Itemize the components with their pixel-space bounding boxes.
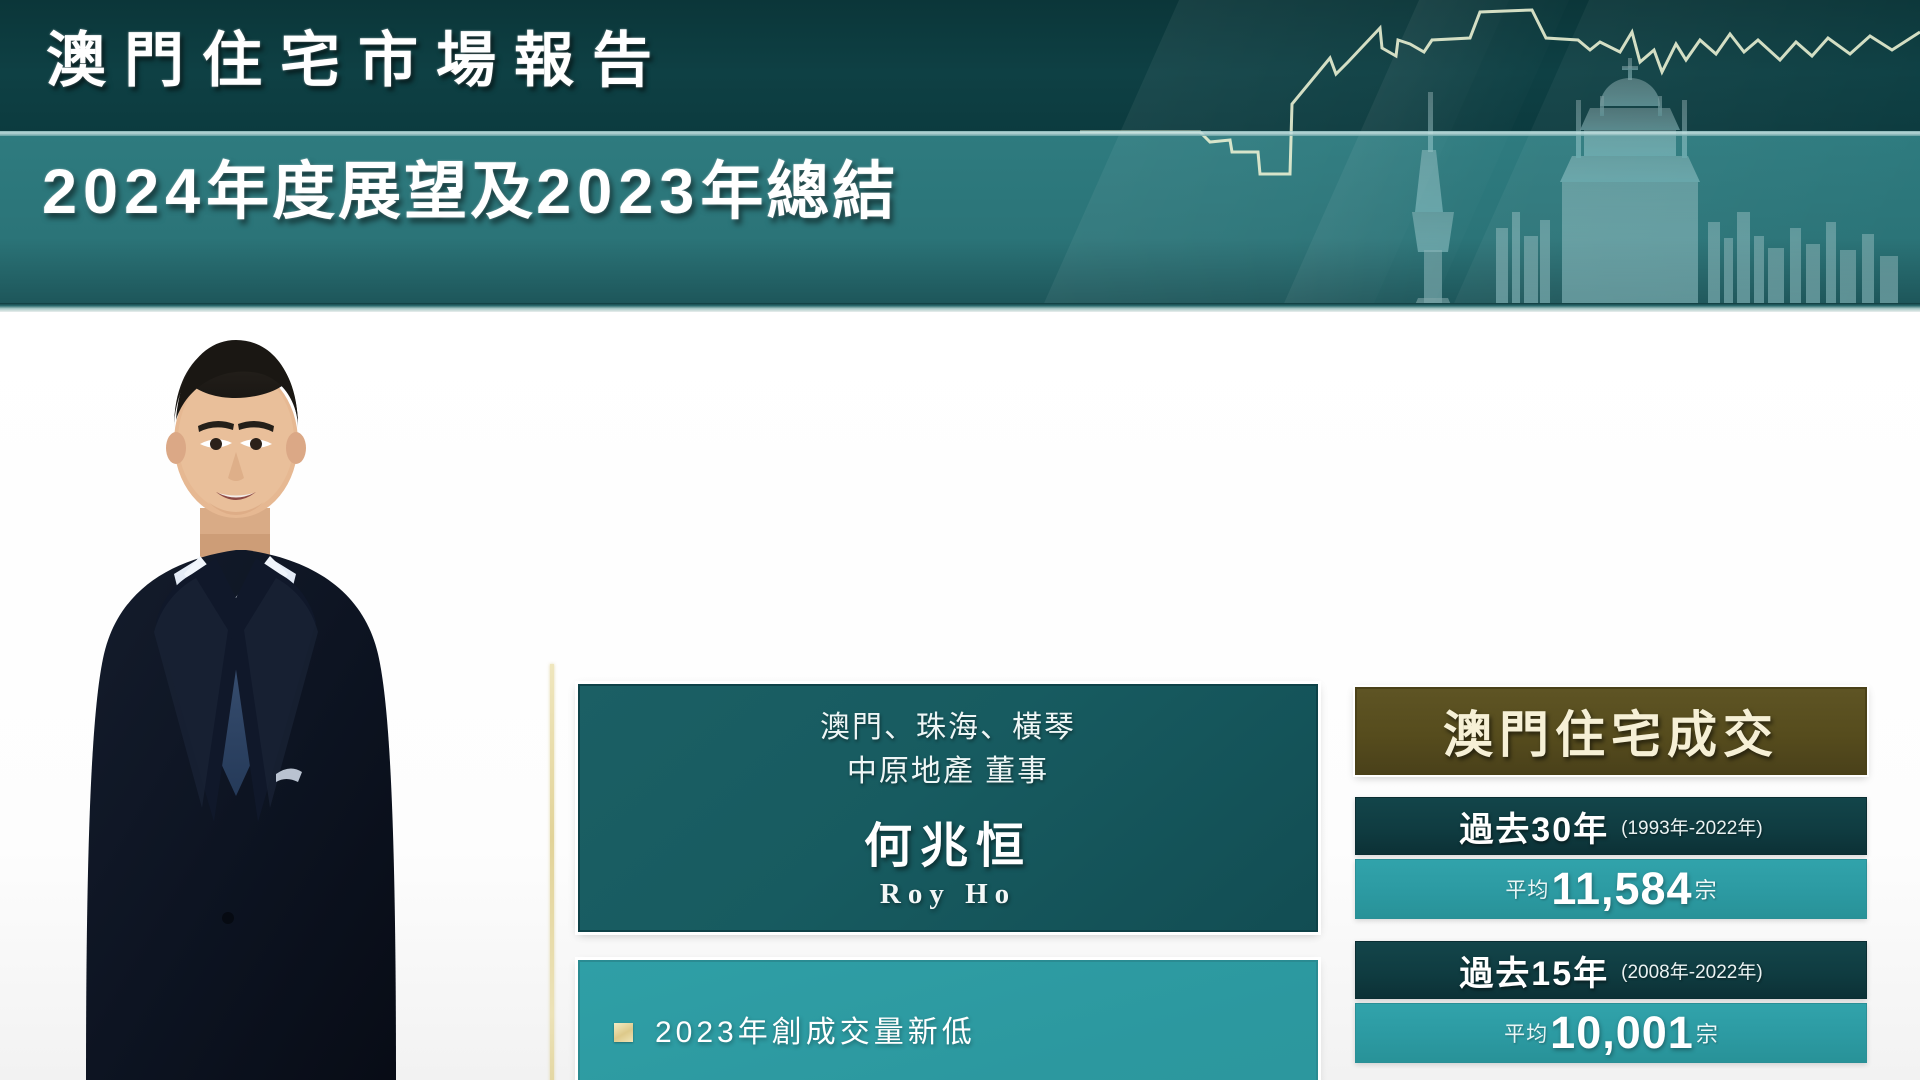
stat-value-number: 11,584 xyxy=(1551,863,1692,915)
speaker-org-line-2: 中原地產 董事 xyxy=(820,750,1076,794)
page-subtitle: 2024年度展望及2023年總結 xyxy=(42,142,898,242)
stat-value-unit: 宗 xyxy=(1696,1017,1718,1049)
page-title: 澳門住宅市場報告 xyxy=(46,18,670,104)
list-item-line: 2023年創成交量新低 xyxy=(655,1010,976,1056)
stats-title-label: 澳門住宅成交 xyxy=(1443,695,1779,767)
speaker-name-card: 澳門、珠海、橫琴 中原地產 董事 何兆恒 Roy Ho xyxy=(578,684,1318,932)
speaker-org: 澳門、珠海、橫琴 中原地產 董事 xyxy=(820,706,1076,794)
stat-value-prefix: 平均 xyxy=(1504,1018,1548,1048)
stat-value-row: 平均 10,001 宗 xyxy=(1355,1003,1867,1063)
gold-vertical-divider xyxy=(550,664,554,1080)
list-item: 2023年創成交量新低 xyxy=(614,1010,1290,1056)
subtitle-year-2023: 2023 xyxy=(536,157,700,227)
header-bottom-edge xyxy=(0,303,1920,312)
stat-value-number: 10,001 xyxy=(1550,1007,1694,1059)
key-points-card: 2023年創成交量新低 2024年1月1日實施貸款劃一70% 2014年1月16… xyxy=(578,960,1318,1080)
slide-header: 澳門住宅市場報告 2024年度展望及2023年總結 xyxy=(0,0,1920,312)
stat-block-15y: 過去15年 (2008年-2022年) 平均 10,001 宗 xyxy=(1355,941,1867,1063)
speaker-name-english: Roy Ho xyxy=(880,878,1016,911)
stats-panel: 澳門住宅成交 過去30年 (1993年-2022年) 平均 11,584 宗 過… xyxy=(1355,687,1867,1080)
stat-header: 過去15年 (2008年-2022年) xyxy=(1355,941,1867,999)
stat-period-label: 過去30年 xyxy=(1459,802,1609,851)
market-trend-line-icon xyxy=(1080,0,1920,240)
stat-period-label: 過去15年 xyxy=(1459,946,1609,995)
header-divider-rule xyxy=(0,131,1920,136)
slide-root: 澳門住宅市場報告 2024年度展望及2023年總結 xyxy=(0,0,1920,1080)
speaker-portrait xyxy=(40,312,460,1080)
slide-body: 澳門、珠海、橫琴 中原地產 董事 何兆恒 Roy Ho 2023年創成交量新低 … xyxy=(0,312,1920,1080)
speaker-org-line-1: 澳門、珠海、橫琴 xyxy=(820,706,1076,750)
subtitle-year-2024: 2024 xyxy=(42,157,206,227)
stat-block-30y: 過去30年 (1993年-2022年) 平均 11,584 宗 xyxy=(1355,797,1867,919)
square-bullet-icon xyxy=(614,1023,633,1042)
stat-value-unit: 宗 xyxy=(1695,873,1717,905)
stat-period-range: (2008年-2022年) xyxy=(1621,957,1763,984)
stat-value-row: 平均 11,584 宗 xyxy=(1355,859,1867,919)
stat-value-prefix: 平均 xyxy=(1505,874,1549,904)
stats-title: 澳門住宅成交 xyxy=(1355,687,1867,775)
stat-header: 過去30年 (1993年-2022年) xyxy=(1355,797,1867,855)
list-item-text: 2023年創成交量新低 xyxy=(655,1010,976,1056)
stat-period-range: (1993年-2022年) xyxy=(1621,813,1763,840)
subtitle-tail-text: 年總結 xyxy=(700,157,898,227)
speaker-name-chinese: 何兆恒 xyxy=(864,806,1032,876)
subtitle-middle-text: 年度展望及 xyxy=(206,157,536,227)
